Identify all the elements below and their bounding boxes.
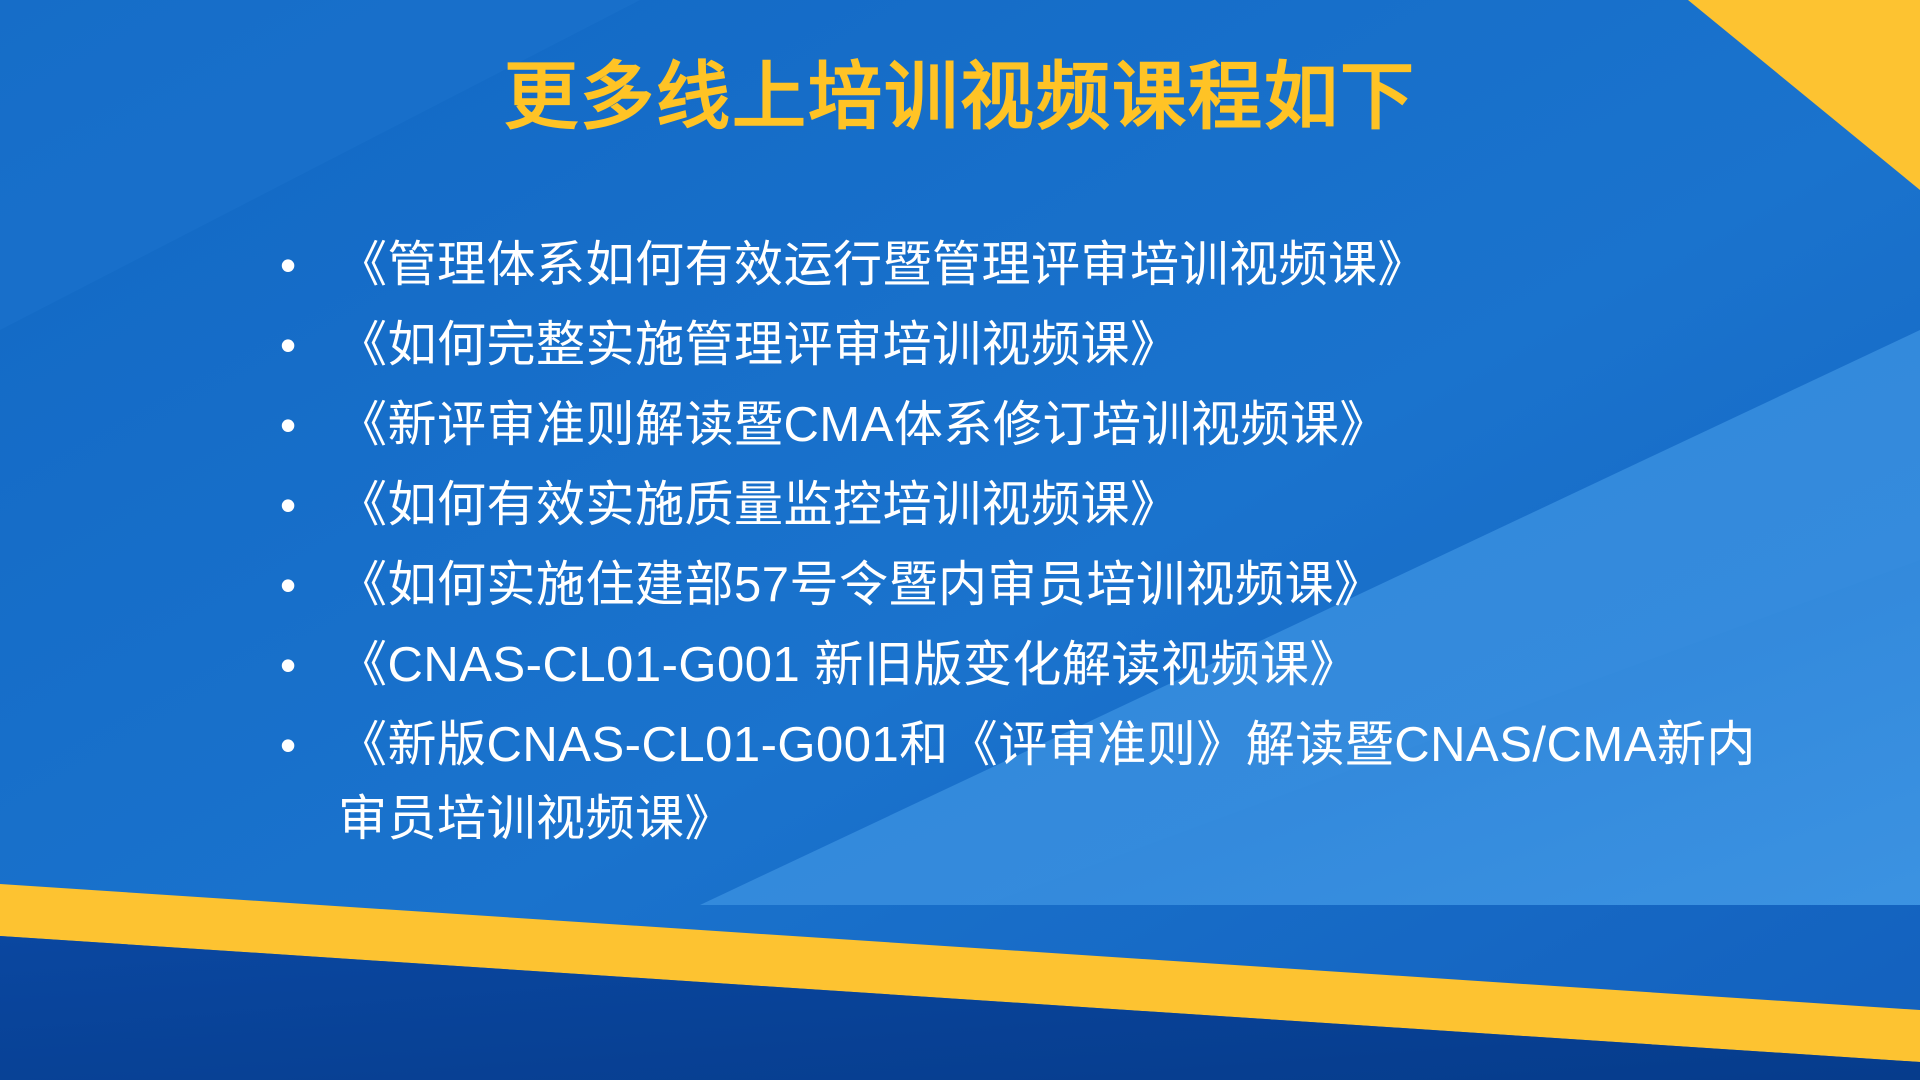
list-item: • 《如何实施住建部57号令暨内审员培训视频课》 xyxy=(268,548,1828,622)
bullet-icon: • xyxy=(268,308,338,382)
list-item: • 《CNAS-CL01-G001 新旧版变化解读视频课》 xyxy=(268,628,1828,702)
bullet-icon: • xyxy=(268,708,338,782)
list-item-label: 《如何实施住建部57号令暨内审员培训视频课》 xyxy=(338,548,1778,622)
slide-canvas: 更多线上培训视频课程如下 • 《管理体系如何有效运行暨管理评审培训视频课》 • … xyxy=(0,0,1920,1080)
bullet-icon: • xyxy=(268,388,338,462)
bullet-icon: • xyxy=(268,468,338,542)
bottom-band xyxy=(0,884,1920,1062)
list-item: • 《如何完整实施管理评审培训视频课》 xyxy=(268,308,1828,382)
list-item-label: 《新版CNAS-CL01-G001和《评审准则》解读暨CNAS/CMA新内审员培… xyxy=(338,708,1758,856)
list-item-label: 《如何完整实施管理评审培训视频课》 xyxy=(338,308,1778,382)
bullet-icon: • xyxy=(268,548,338,622)
list-item-label: 《新评审准则解读暨CMA体系修订培训视频课》 xyxy=(338,388,1778,462)
list-item: • 《新评审准则解读暨CMA体系修订培训视频课》 xyxy=(268,388,1828,462)
bullet-icon: • xyxy=(268,628,338,702)
course-list: • 《管理体系如何有效运行暨管理评审培训视频课》 • 《如何完整实施管理评审培训… xyxy=(268,228,1828,862)
list-item: • 《如何有效实施质量监控培训视频课》 xyxy=(268,468,1828,542)
list-item-label: 《如何有效实施质量监控培训视频课》 xyxy=(338,468,1778,542)
list-item-label: 《管理体系如何有效运行暨管理评审培训视频课》 xyxy=(338,228,1778,302)
bullet-icon: • xyxy=(268,228,338,302)
list-item-label: 《CNAS-CL01-G001 新旧版变化解读视频课》 xyxy=(338,628,1778,702)
list-item: • 《新版CNAS-CL01-G001和《评审准则》解读暨CNAS/CMA新内审… xyxy=(268,708,1828,856)
list-item: • 《管理体系如何有效运行暨管理评审培训视频课》 xyxy=(268,228,1828,302)
page-title: 更多线上培训视频课程如下 xyxy=(0,58,1920,136)
